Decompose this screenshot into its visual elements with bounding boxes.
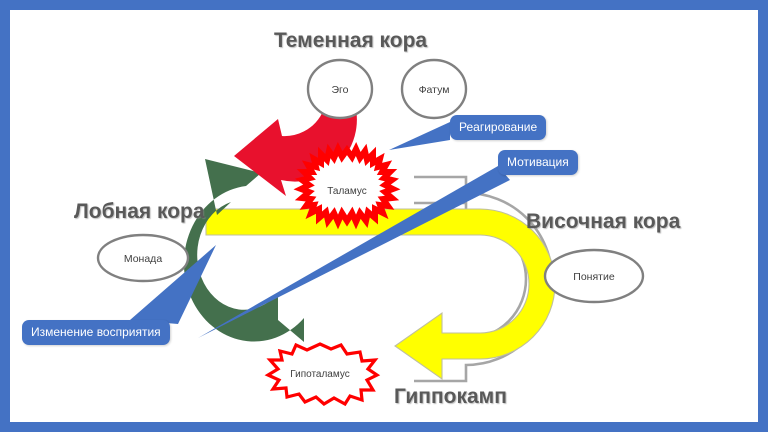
thalamus-label: Таламус [327,186,367,197]
region-title-frontal: Лобная кора [74,200,205,224]
reaction-callout-tail [389,122,450,150]
node-fatum-label: Фатум [419,84,450,96]
region-title-temporal: Височная кора [526,210,680,234]
node-monad-label: Монада [124,253,162,265]
region-title-hippocampus: Гиппокамп [394,385,507,409]
diagram-canvas: Эго Фатум Монада Понятие Таламус Гипотал… [10,10,758,422]
callout-reaction[interactable]: Реагирование [450,115,546,140]
callout-perception-change[interactable]: Изменение восприятия [22,320,170,345]
node-concept-label: Понятие [573,271,615,283]
node-ego-label: Эго [332,84,349,96]
slide-frame: Эго Фатум Монада Понятие Таламус Гипотал… [0,0,768,432]
hypothalamus-label: Гипоталамус [290,369,350,380]
callout-motivation[interactable]: Мотивация [498,150,578,175]
region-title-parietal: Теменная кора [274,29,427,53]
